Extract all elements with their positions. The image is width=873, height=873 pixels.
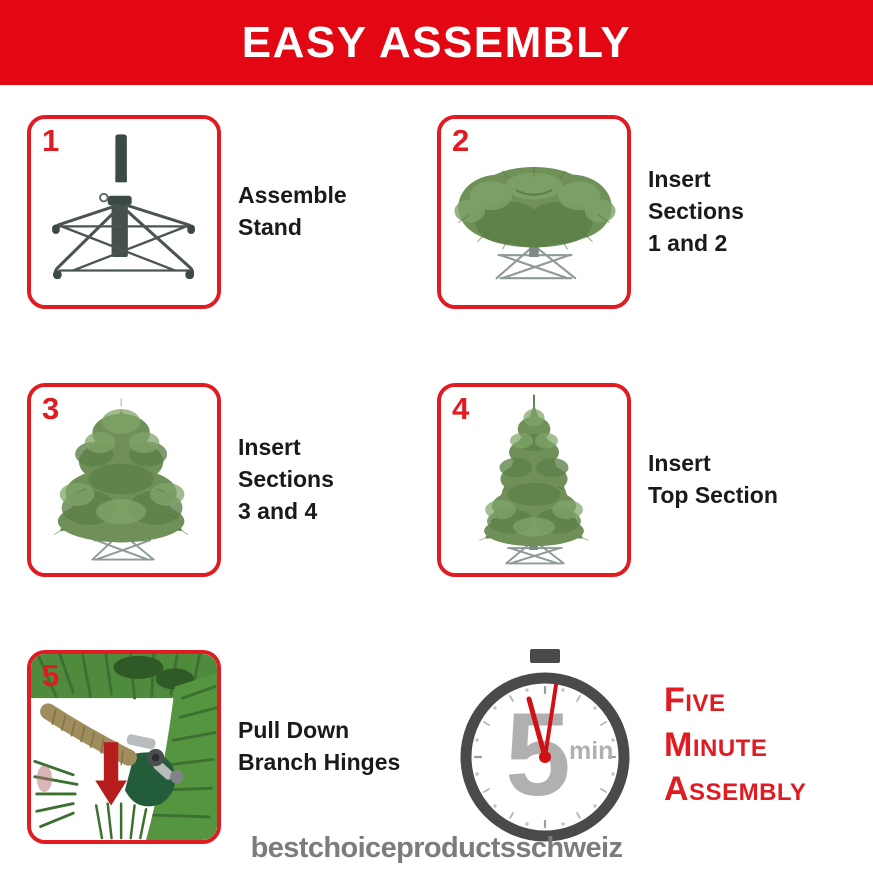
step-2: 2	[437, 115, 744, 309]
step-5-image-box: 5	[27, 650, 221, 844]
step-2-number: 2	[452, 122, 469, 159]
step-4-image-box: 4	[437, 383, 631, 577]
page-title: EASY ASSEMBLY	[242, 21, 632, 65]
step-1-number: 1	[42, 122, 59, 159]
stopwatch-dial-unit: min	[569, 737, 613, 765]
stopwatch-icon: 5 min	[450, 647, 640, 843]
step-3-number: 3	[42, 390, 59, 427]
step-5-number: 5	[42, 657, 59, 694]
step-1: 1	[27, 115, 347, 309]
easy-assembly-infographic: EASY ASSEMBLY 1	[0, 0, 873, 873]
step-2-image-box: 2	[437, 115, 631, 309]
watermark-brand: bestchoiceproductsschweiz	[0, 832, 873, 865]
step-1-image-box: 1	[27, 115, 221, 309]
step-3-image-box: 3	[27, 383, 221, 577]
step-5: 5	[27, 650, 400, 844]
assembly-line-1: Five	[664, 678, 806, 723]
assembly-line-3: Assembly	[664, 767, 806, 812]
step-5-label: Pull Down Branch Hinges	[238, 715, 400, 778]
five-minute-assembly-text: Five Minute Assembly	[664, 678, 806, 813]
step-3-label: Insert Sections 3 and 4	[238, 432, 334, 527]
stopwatch-graphic: 5 min	[450, 647, 640, 843]
step-3: 3	[27, 383, 334, 577]
assembly-line-2: Minute	[664, 723, 806, 768]
step-4-label: Insert Top Section	[648, 448, 778, 511]
five-minute-assembly-block: 5 min Five Minute Assembly	[450, 645, 870, 845]
stopwatch-dial-number: 5	[505, 689, 571, 821]
step-2-label: Insert Sections 1 and 2	[648, 164, 744, 259]
step-1-label: Assemble Stand	[238, 180, 347, 243]
step-4: 4	[437, 383, 778, 577]
header-banner: EASY ASSEMBLY	[0, 0, 873, 85]
step-4-number: 4	[452, 390, 469, 427]
